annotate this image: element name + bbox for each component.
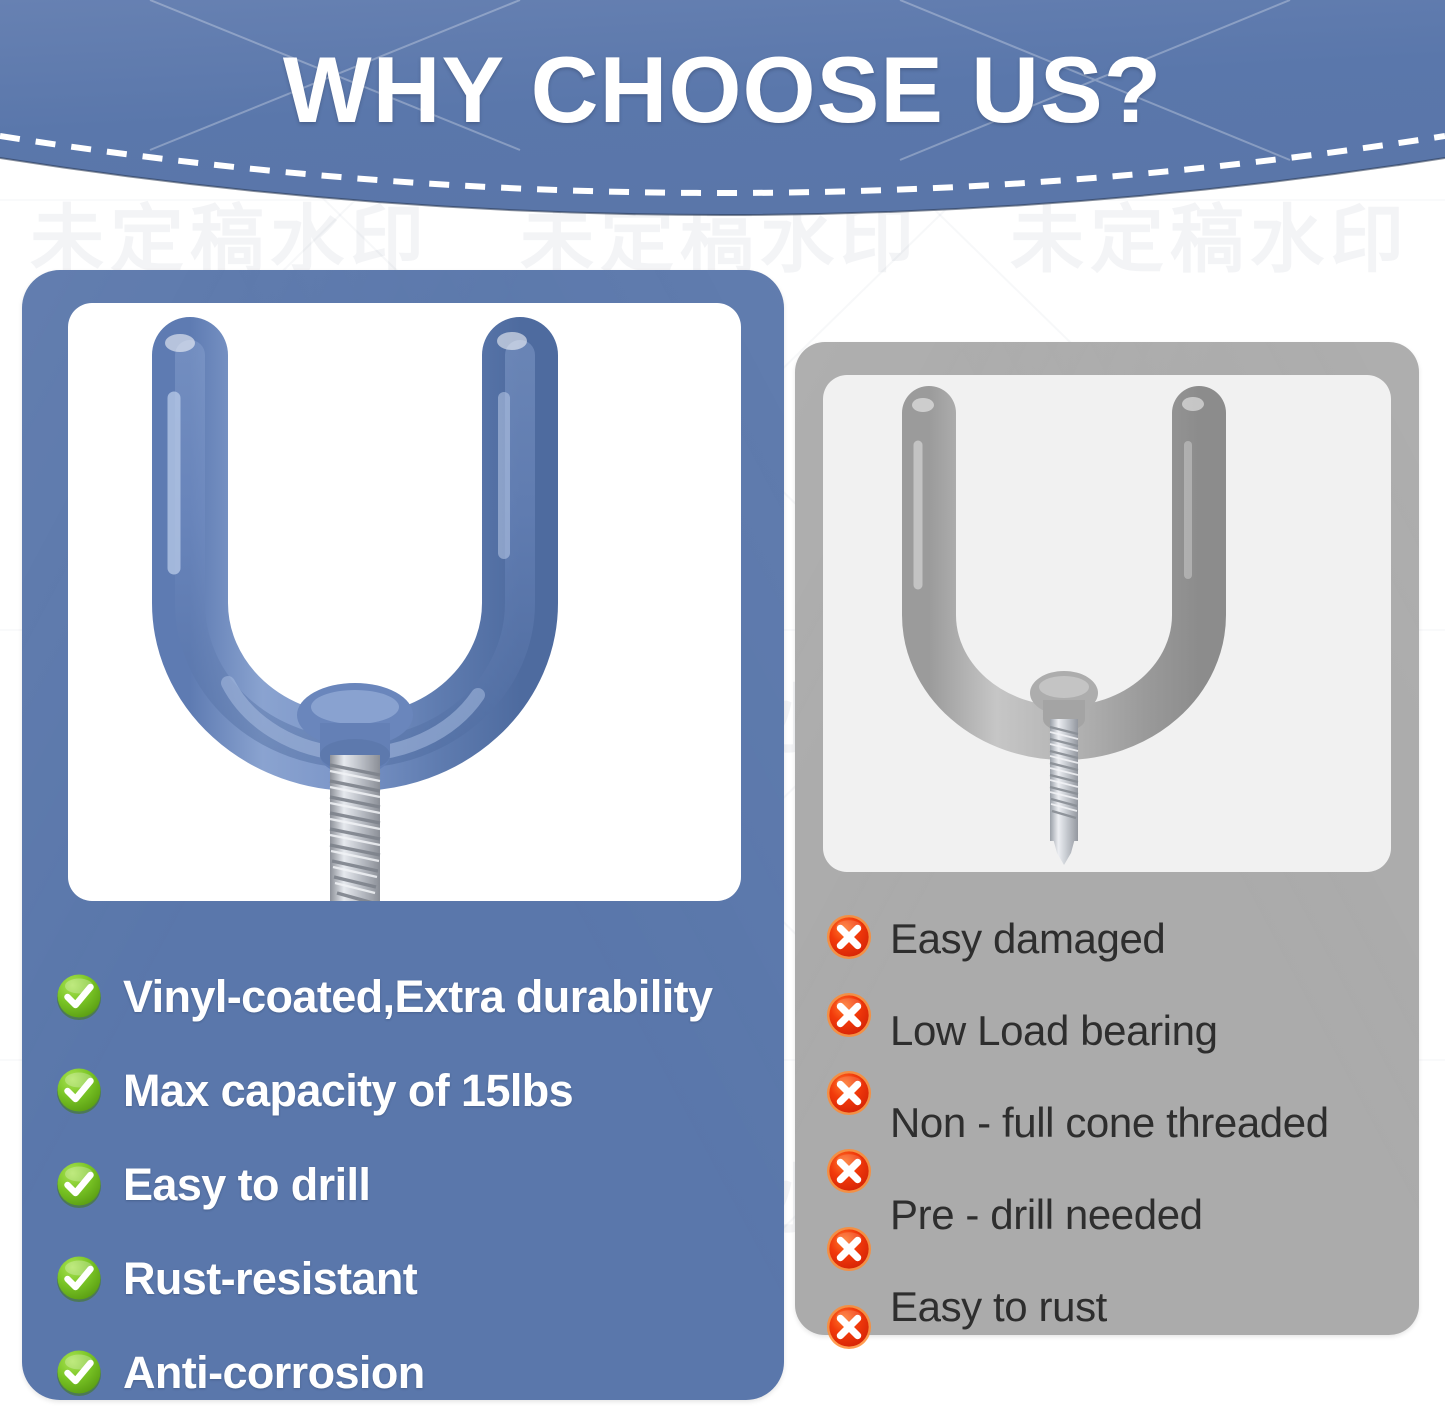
check-circle-icon	[55, 973, 103, 1021]
pros-list: Vinyl-coated,Extra durability Max capaci…	[55, 950, 775, 1407]
list-item: Max capacity of 15lbs	[55, 1044, 775, 1138]
list-item: Easy to drill	[55, 1138, 775, 1232]
page-title: WHY CHOOSE US?	[0, 36, 1445, 144]
cons-product-image-card	[823, 375, 1391, 872]
check-circle-icon	[55, 1349, 103, 1397]
list-item: Non - full cone threaded	[826, 1054, 1406, 1132]
check-circle-icon	[55, 1067, 103, 1115]
list-item: Easy to rust	[826, 1210, 1406, 1288]
list-item-label: Rust-resistant	[123, 1253, 417, 1305]
cons-list: Easy damaged Low Load bearing Non - full…	[826, 898, 1406, 1366]
blue-hook-illustration	[68, 303, 741, 901]
list-item: Vinyl-coated,Extra durability	[55, 950, 775, 1044]
check-circle-icon	[55, 1161, 103, 1209]
pros-product-image-card	[68, 303, 741, 901]
check-circle-icon	[55, 1255, 103, 1303]
cross-circle-icon	[826, 1070, 872, 1116]
infographic-page: 未定稿水印 未定稿水印 未定稿水印 未定稿水印 未定稿水印 未定稿水印 未定稿水…	[0, 0, 1445, 1407]
list-item-label: Low Load bearing	[890, 1007, 1218, 1055]
cross-circle-icon	[826, 1148, 872, 1194]
list-item: Rust-resistant	[55, 1232, 775, 1326]
list-item	[826, 1288, 1406, 1366]
cross-circle-icon	[826, 1304, 872, 1350]
list-item-label: Vinyl-coated,Extra durability	[123, 971, 712, 1023]
list-item: Easy damaged	[826, 898, 1406, 976]
list-item-label: Anti-corrosion	[123, 1347, 425, 1399]
list-item: Pre - drill needed	[826, 1132, 1406, 1210]
list-item: Anti-corrosion	[55, 1326, 775, 1407]
list-item-label: Easy to drill	[123, 1159, 370, 1211]
cross-circle-icon	[826, 992, 872, 1038]
list-item: Low Load bearing	[826, 976, 1406, 1054]
list-item-label: Max capacity of 15lbs	[123, 1065, 573, 1117]
list-item-label: Easy damaged	[890, 915, 1165, 963]
gray-hook-illustration	[823, 375, 1391, 872]
cross-circle-icon	[826, 1226, 872, 1272]
cross-circle-icon	[826, 914, 872, 960]
